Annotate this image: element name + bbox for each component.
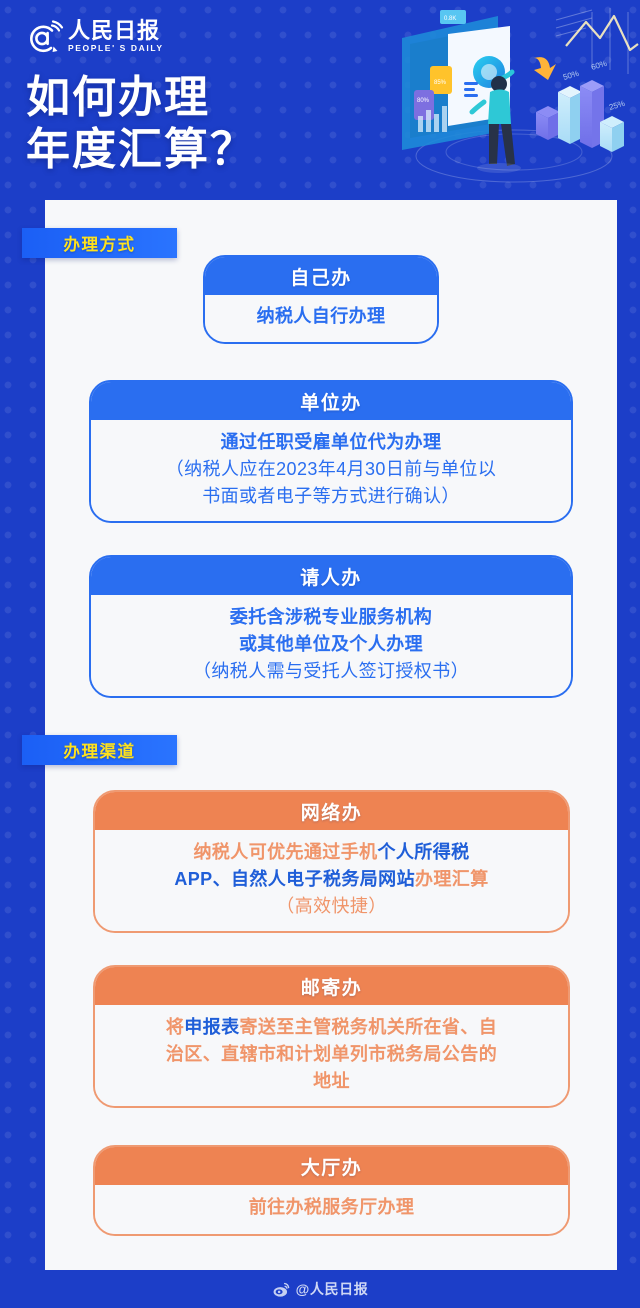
card-body: 纳税人自行办理	[205, 295, 437, 342]
card-header: 邮寄办	[95, 967, 568, 1005]
card-header: 大厅办	[95, 1147, 568, 1185]
card-text-line: （纳税人应在2023年4月30日前与单位以	[107, 456, 555, 483]
card-title: 网络办	[301, 798, 363, 825]
card-mail-channel: 邮寄办 将申报表寄送至主管税务机关所在省、自 治区、直辖市和计划单列市税务局公告…	[93, 965, 570, 1108]
svg-text:0.8K: 0.8K	[444, 16, 456, 22]
footer-attribution: @人民日报	[0, 1270, 640, 1308]
card-online-channel: 网络办 纳税人可优先通过手机个人所得税 APP、自然人电子税务局网站办理汇算 （…	[93, 790, 570, 933]
page-title: 如何办理 年度汇算？	[26, 72, 356, 176]
card-header: 网络办	[95, 792, 568, 830]
card-hall-channel: 大厅办 前往办税服务厅办理	[93, 1145, 570, 1236]
card-header: 自己办	[205, 257, 437, 295]
card-body: 将申报表寄送至主管税务机关所在省、自 治区、直辖市和计划单列市税务局公告的 地址	[95, 1005, 568, 1106]
page-title-line-1: 如何办理	[26, 72, 356, 124]
card-text-line: 纳税人可优先通过手机个人所得税	[111, 839, 552, 866]
card-self-service: 自己办 纳税人自行办理	[203, 255, 439, 344]
card-title: 邮寄办	[301, 973, 363, 1000]
data-dashboard-illustration: 85% 80% 0.8K	[386, 4, 640, 192]
card-header: 请人办	[91, 557, 571, 595]
card-text-line: 通过任职受雇单位代为办理	[107, 429, 555, 456]
section-band-handling-channels: 办理渠道	[22, 735, 177, 765]
card-text-line: 治区、直辖市和计划单列市税务局公告的	[111, 1041, 552, 1068]
svg-text:80%: 80%	[417, 98, 430, 104]
card-body: 纳税人可优先通过手机个人所得税 APP、自然人电子税务局网站办理汇算 （高效快捷…	[95, 830, 568, 931]
card-agent-service: 请人办 委托含涉税专业服务机构 或其他单位及个人办理 （纳税人需与受托人签订授权…	[89, 555, 573, 698]
card-text-line: 委托含涉税专业服务机构	[107, 604, 555, 631]
svg-text:60%: 60%	[590, 59, 608, 72]
card-body: 前往办税服务厅办理	[95, 1185, 568, 1234]
svg-text:25%: 25%	[608, 99, 626, 112]
card-text-line: 将申报表寄送至主管税务机关所在省、自	[111, 1014, 552, 1041]
svg-text:85%: 85%	[434, 80, 447, 86]
page-title-line-2: 年度汇算？	[26, 124, 356, 176]
card-text-line: 前往办税服务厅办理	[109, 1194, 554, 1221]
card-body: 委托含涉税专业服务机构 或其他单位及个人办理 （纳税人需与受托人签订授权书）	[91, 595, 571, 696]
card-title: 自己办	[290, 263, 352, 290]
card-text-line: 书面或者电子等方式进行确认）	[107, 483, 555, 510]
section-band-label: 办理渠道	[64, 738, 136, 762]
card-title: 请人办	[300, 563, 362, 590]
section-band-handling-methods: 办理方式	[22, 228, 177, 258]
card-title: 单位办	[300, 388, 362, 415]
at-signal-icon	[22, 16, 66, 60]
logo-name-en: PEOPLE' S DAILY	[68, 43, 164, 54]
card-text-line: 地址	[111, 1068, 552, 1095]
peoples-daily-logo: 人民日报 PEOPLE' S DAILY	[22, 16, 172, 64]
card-text-line: 或其他单位及个人办理	[107, 631, 555, 658]
logo-name-cn: 人民日报	[68, 19, 160, 43]
weibo-icon	[272, 1280, 291, 1299]
card-header: 单位办	[91, 382, 571, 420]
section-band-label: 办理方式	[64, 231, 136, 255]
footer-handle: @人民日报	[296, 1279, 369, 1299]
svg-text:50%: 50%	[562, 69, 580, 82]
infographic-poster: 人民日报 PEOPLE' S DAILY 如何办理 年度汇算？	[0, 0, 640, 1308]
card-text-line: （纳税人需与受托人签订授权书）	[107, 658, 555, 685]
card-text-line: APP、自然人电子税务局网站办理汇算	[111, 866, 552, 893]
card-text-line: （高效快捷）	[111, 893, 552, 920]
card-text-line: 纳税人自行办理	[219, 303, 423, 330]
card-body: 通过任职受雇单位代为办理 （纳税人应在2023年4月30日前与单位以 书面或者电…	[91, 420, 571, 521]
card-title: 大厅办	[301, 1153, 363, 1180]
card-employer-service: 单位办 通过任职受雇单位代为办理 （纳税人应在2023年4月30日前与单位以 书…	[89, 380, 573, 523]
